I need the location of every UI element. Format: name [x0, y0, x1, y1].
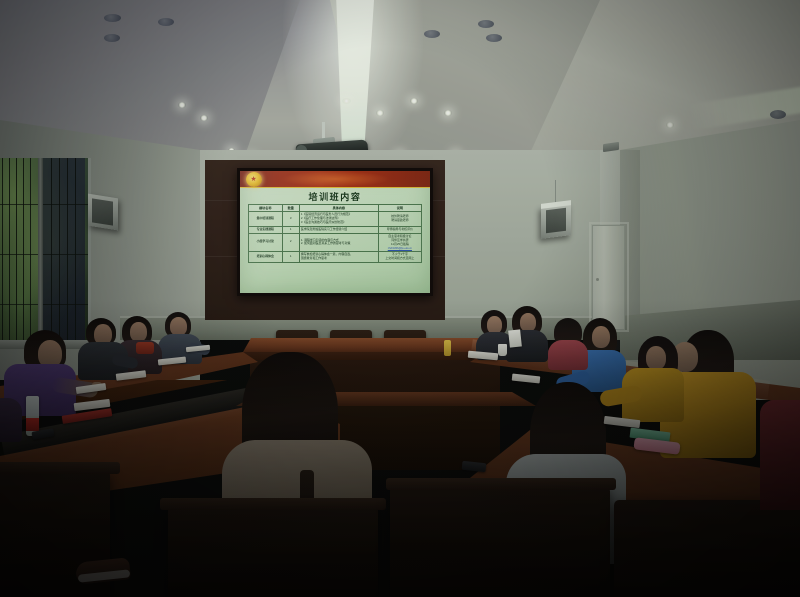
content-line: 3《医患沟通技巧与医疗纠纷防范》 [301, 221, 377, 225]
chair-foreground-left[interactable] [168, 506, 378, 597]
email-link[interactable]: zhzh1806@fju.edu.cn [380, 247, 420, 250]
column-header-note: 说明 [378, 205, 421, 212]
ceiling-fixture-icon [770, 110, 786, 119]
column-header-qty: 数量 [282, 205, 299, 212]
window-pane-right [43, 158, 85, 348]
cell-note: 导师指导与考核评价 [378, 226, 421, 233]
notebook[interactable] [512, 374, 541, 384]
slide-table: 模块名称 数量 具体内容 说明 集中培训课程 3 1《医院经济运行与医务人员行为… [248, 204, 422, 263]
chair-foreground-right[interactable] [614, 500, 800, 597]
chair-back-rail [160, 498, 386, 510]
slide-title: 培训班内容 [240, 190, 430, 203]
cell-module: 培训心得体会 [249, 252, 283, 263]
red-scarf [136, 342, 154, 354]
cell-note: 自主思考积极讨论 同伴互学共研 11月25日截稿 zhzh1806@fju.ed… [378, 233, 421, 251]
downlight-icon [178, 102, 186, 108]
column-header-module: 模块名称 [249, 205, 283, 212]
mobile-phone[interactable] [462, 461, 487, 472]
ceiling-fixture-icon [478, 20, 494, 28]
slide-banner-glow [280, 171, 390, 187]
yellow-bottle[interactable] [444, 340, 451, 356]
downlight-icon [200, 115, 208, 121]
wall-speaker-right-grille [546, 208, 566, 233]
content-line: 围绕教育和工作思考 [301, 257, 377, 261]
note-line: 导师指导与考核评价 [380, 228, 420, 232]
chair-back-rail [386, 478, 616, 490]
projection-screen: ★ 培训班内容 模块名称 数量 具体内容 说明 集中培训课程 3 1《医院经济运… [240, 171, 430, 293]
downlight-icon [342, 98, 351, 104]
window-mullion [38, 158, 43, 348]
table-row: 培训心得体会 1 撰写参加培训心得体会一篇，内容自选， 围绕教育和工作思考 不少… [249, 252, 422, 263]
content-line: 医学院及附属医院实习工作经验介绍 [301, 228, 377, 232]
ceiling-fixture-icon [424, 30, 440, 38]
ceiling-fixture-icon [104, 34, 120, 42]
ceiling-fixture-icon [158, 18, 174, 26]
paper-cup[interactable] [498, 344, 507, 356]
table-row: 集中培训课程 3 1《医院经济运行与医务人员行为规范》 2《医疗工作伦理与法律边… [249, 212, 422, 227]
cell-note: 校外聘请老师 聘请思政老师 [378, 212, 421, 227]
cell-module: 小组学习讨论 [249, 233, 283, 251]
downlight-icon [410, 98, 418, 104]
table-row: 小组学习讨论 2 1. 课程学习引领的内容与方式 2. 如何面对医患关系工作的思… [249, 233, 422, 251]
downlight-icon [444, 110, 452, 116]
cell-qty: 1 [282, 252, 299, 263]
cell-content: 1. 课程学习引领的内容与方式 2. 如何面对医患关系工作的思考与对策 [299, 233, 378, 251]
cell-module: 专业实践课程 [249, 226, 283, 233]
column-header-content: 具体内容 [299, 205, 378, 212]
emblem-star-icon: ★ [250, 176, 257, 183]
cell-qty: 2 [282, 233, 299, 251]
downlight-icon [666, 122, 674, 128]
cell-content: 撰写参加培训心得体会一篇，内容自选， 围绕教育和工作思考 [299, 252, 378, 263]
ceiling-fixture-icon [486, 34, 502, 42]
chair-back-rail [0, 462, 120, 474]
cell-content: 1《医院经济运行与医务人员行为规范》 2《医疗工作伦理与法律边界》 3《医患沟通… [299, 212, 378, 227]
chair-foreground-center[interactable] [390, 486, 610, 597]
content-line: 2. 如何面对医患关系工作的思考与对策 [301, 242, 377, 246]
window [0, 158, 91, 348]
cell-module: 集中培训课程 [249, 212, 283, 227]
downlight-icon [376, 110, 384, 116]
table-row: 专业实践课程 1 医学院及附属医院实习工作经验介绍 导师指导与考核评价 [249, 226, 422, 233]
ceiling-fixture-icon [104, 14, 121, 22]
slide-divider [240, 187, 430, 188]
cell-qty: 3 [282, 212, 299, 227]
paper-sheet[interactable] [508, 329, 522, 347]
cell-qty: 1 [282, 226, 299, 233]
cell-content: 医学院及附属医院实习工作经验介绍 [299, 226, 378, 233]
conference-table-far [243, 338, 493, 352]
note-line: 聘请思政老师 [380, 219, 420, 223]
cell-note: 不少于1千字 上交时间和方式见网上 [378, 252, 421, 263]
note-line: 上交时间和方式见网上 [380, 257, 420, 261]
door-knob-icon[interactable] [596, 278, 599, 281]
wall-speaker-left-grille [92, 198, 113, 225]
conference-room-photo: ★ 培训班内容 模块名称 数量 具体内容 说明 集中培训课程 3 1《医院经济运… [0, 0, 800, 597]
slide-table-header-row: 模块名称 数量 具体内容 说明 [249, 205, 422, 212]
